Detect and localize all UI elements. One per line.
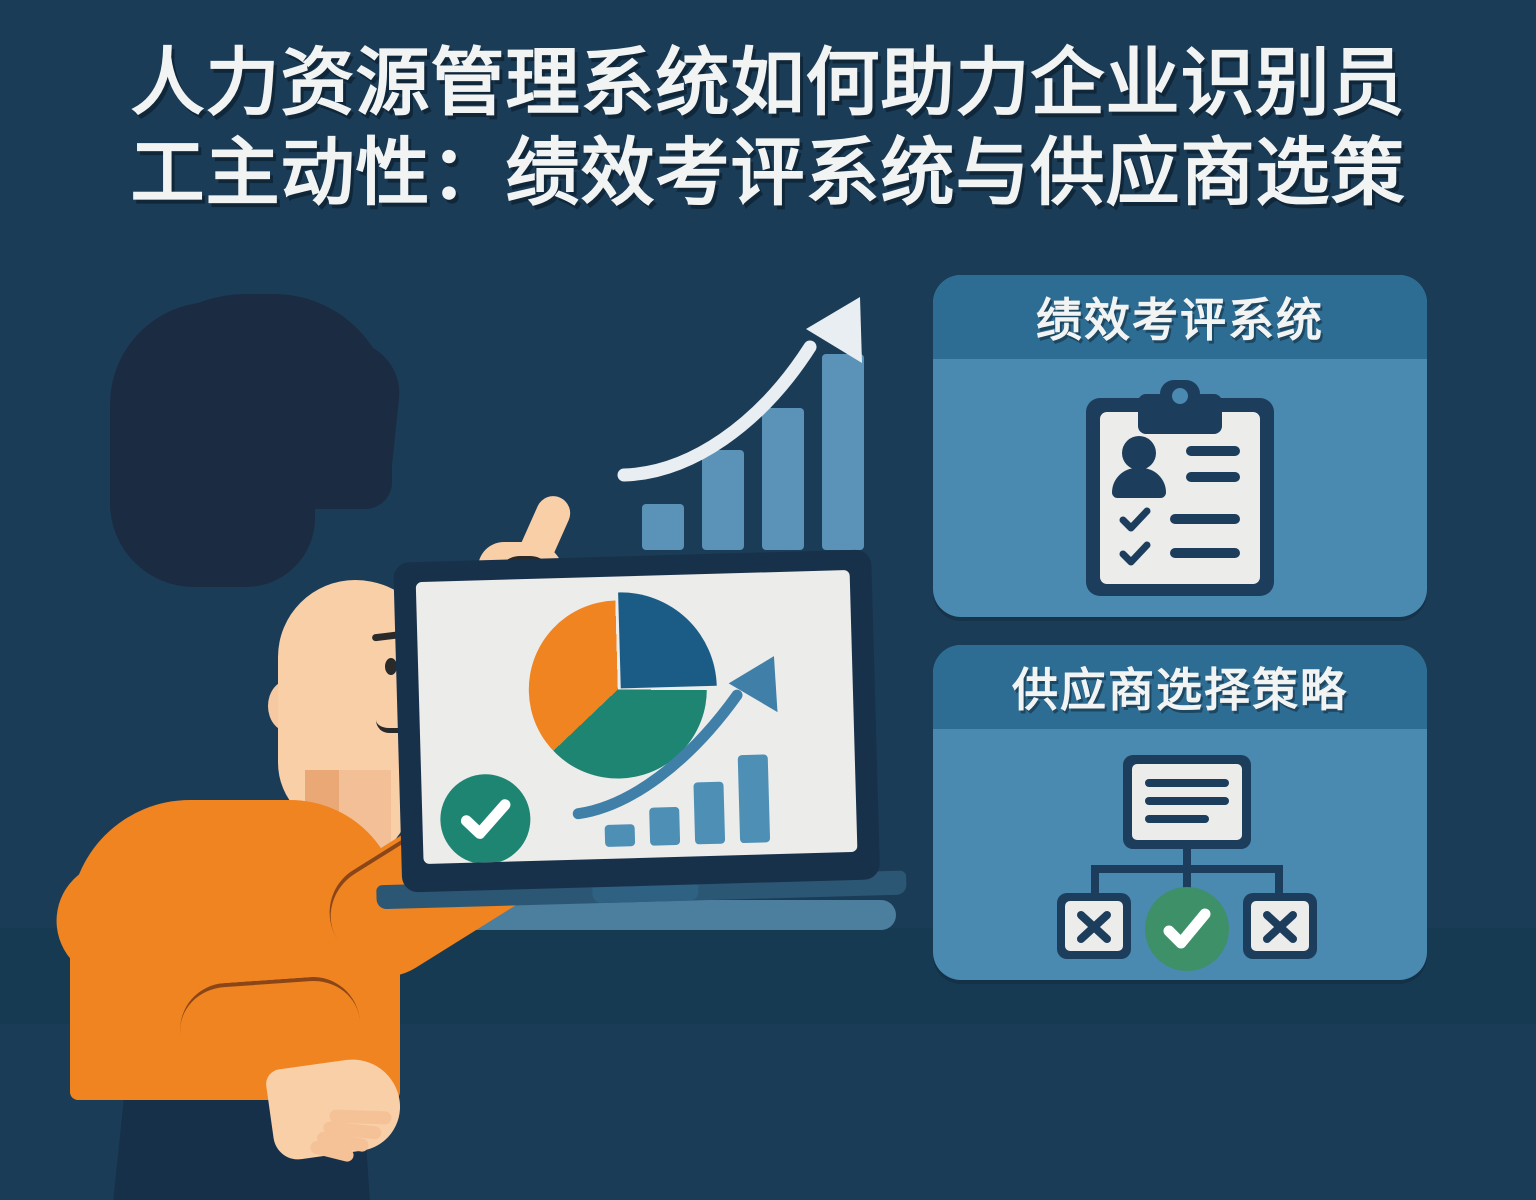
clipboard-checklist-icon [1086, 380, 1274, 596]
title-line-1: 人力资源管理系统如何助力企业识别员 [60, 46, 1476, 120]
card-body [933, 729, 1427, 980]
card-title: 供应商选择策略 [1012, 654, 1348, 720]
growth-arrow-icon [610, 285, 900, 550]
accept-check-icon [1145, 887, 1229, 971]
laptop-lid [393, 549, 880, 892]
decision-tree-icon [1035, 747, 1325, 963]
background-growth-chart [610, 285, 900, 550]
laptop-hinge-notch [592, 884, 698, 903]
reject-x-icon [1259, 909, 1301, 945]
card-performance-appraisal[interactable]: 绩效考评系统 [933, 275, 1427, 617]
card-title: 绩效考评系统 [1036, 284, 1324, 350]
poster-canvas: 人力资源管理系统如何助力企业识别员 工主动性：绩效考评系统与供应商选策 [0, 0, 1536, 1024]
reject-x-icon [1073, 909, 1115, 945]
card-body [933, 359, 1427, 617]
laptop-screen [416, 570, 858, 864]
laptop [393, 549, 881, 914]
card-header: 绩效考评系统 [933, 275, 1427, 359]
success-check-badge [439, 773, 531, 864]
title-line-2: 工主动性：绩效考评系统与供应商选策 [60, 136, 1476, 210]
card-supplier-strategy[interactable]: 供应商选择策略 [933, 645, 1427, 980]
card-header: 供应商选择策略 [933, 645, 1427, 729]
page-title: 人力资源管理系统如何助力企业识别员 工主动性：绩效考评系统与供应商选策 [0, 46, 1536, 210]
screen-trend-arrow-icon [568, 648, 854, 864]
